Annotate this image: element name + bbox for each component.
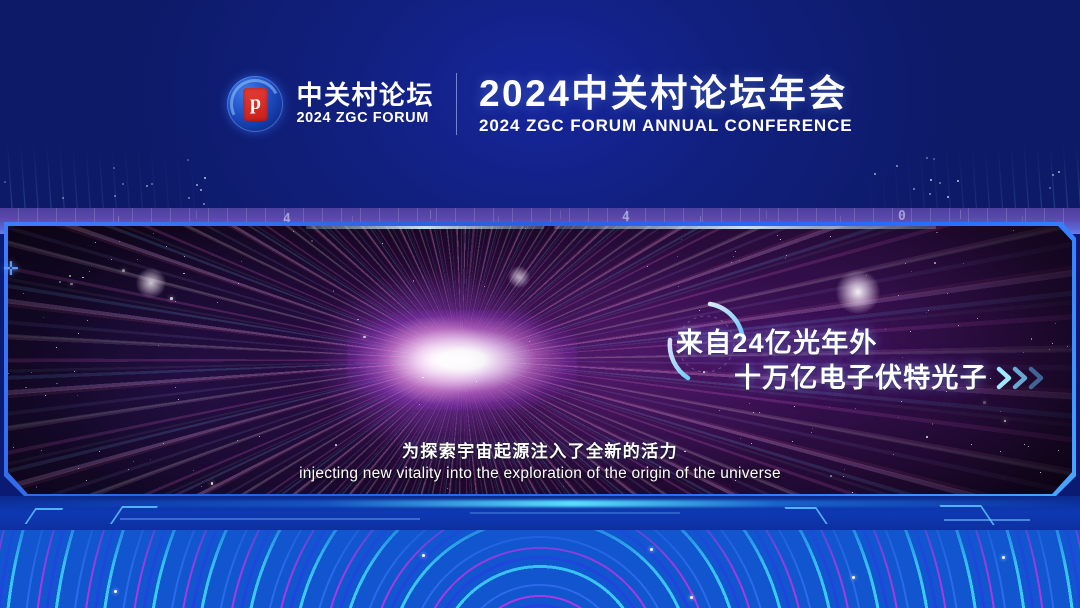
star [1067,346,1068,347]
strip-chevron-4 [939,505,994,525]
star [45,395,46,396]
star [119,241,120,242]
star [983,401,986,404]
star [926,436,928,438]
star [753,412,754,413]
strip-bar-3 [944,519,1030,521]
star [1000,411,1001,412]
bottom-tech-strip [0,496,1080,532]
crosshair-marker-icon: ✛ [3,260,19,279]
arc-spark-4 [852,576,855,579]
star [78,333,79,334]
bottom-arc-field [0,530,1080,608]
star [811,432,812,433]
star [947,293,948,294]
star [31,372,32,373]
panel-top-edge-bars [8,226,1072,230]
strip-bar-1 [120,518,420,520]
star [59,281,61,283]
star [759,412,760,413]
star [524,363,525,364]
star [69,275,71,277]
chevron-right-icons [996,365,1050,391]
video-panel[interactable]: ✛ 来自24亿光年外 十万亿电子伏特光子 [0,216,1080,502]
star [56,383,58,385]
star [178,399,179,400]
star [311,240,313,242]
star [812,428,813,429]
strip-bar-2 [470,512,680,514]
conference-lockup: p 中关村论坛 2024 ZGC FORUM 2024中关村论坛年会 2024 … [0,0,1080,208]
brand-name-en: 2024 ZGC FORUM [296,111,434,126]
star [855,408,856,409]
conference-title-en: 2024 ZGC FORUM ANNUAL CONFERENCE [479,117,853,134]
headline-line-2: 十万亿电子伏特光子 [734,361,988,396]
star [911,271,912,272]
brand-text-group: 中关村论坛 2024 ZGC FORUM [296,82,434,126]
headline-line-2-row: 十万亿电子伏特光子 [734,361,1050,396]
brand-logo-group: p 中关村论坛 2024 ZGC FORUM [227,76,434,132]
brand-name-cn: 中关村论坛 [296,82,434,108]
star [677,256,678,257]
star [977,318,978,319]
caption-en: injecting new vitality into the explorat… [0,464,1080,485]
arc-spark-6 [690,596,693,599]
arc-spark-3 [650,548,653,551]
glow-orb-right [836,270,880,314]
conference-title-group: 2024中关村论坛年会 2024 ZGC FORUM ANNUAL CONFER… [479,75,853,134]
conference-title-cn: 2024中关村论坛年会 [479,75,853,112]
star [785,258,786,259]
star [901,401,902,402]
arc-spark-5 [1002,556,1005,559]
arc-spark-1 [114,590,117,593]
caption-block: 为探索宇宙起源注入了全新的活力 injecting new vitality i… [0,441,1080,485]
glow-orb-mid [508,266,530,288]
strip-chevron-3 [784,507,827,524]
logo-chip-glyph: p [243,88,268,121]
headline-block: 来自24亿光年外 十万亿电子伏特光子 [676,326,1050,395]
caption-cn: 为探索宇宙起源注入了全新的活力 [0,441,1080,464]
lockup-divider [456,73,457,135]
star [238,283,239,284]
star [74,371,75,372]
presentation-slide: p 中关村论坛 2024 ZGC FORUM 2024中关村论坛年会 2024 … [0,0,1080,608]
star [786,255,787,256]
strip-chevron-2 [110,506,158,524]
supernova-burst-core [347,310,577,410]
star [926,312,927,313]
star [382,243,383,244]
star [70,283,73,286]
arc-field-veil [0,530,1080,608]
star [170,297,173,300]
star [175,387,176,388]
strip-light-sweep [0,500,1080,507]
headline-line-1: 来自24亿光年外 [676,326,1050,361]
arc-spark-2 [422,554,425,557]
star [934,262,936,264]
glow-orb-left [136,268,166,298]
star [89,271,90,272]
star [122,269,125,272]
zgc-forum-logo-icon: p [227,76,283,132]
strip-chevron-1 [25,508,64,524]
star [898,417,899,418]
